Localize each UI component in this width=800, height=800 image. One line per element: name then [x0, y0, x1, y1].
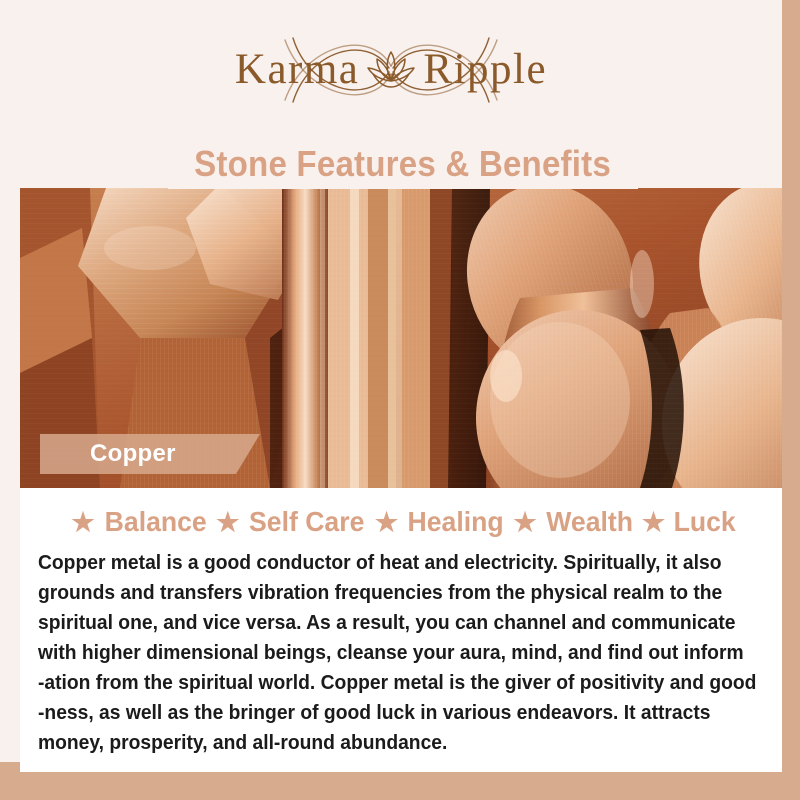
description-line: spiritual one, and vice versa. As a resu…	[38, 608, 720, 638]
poster-root: Karma Ripple Stone Features & Benefits	[0, 0, 800, 800]
benefit-keyword-row: ★ Balance ★ Self Care ★ Healing ★ Wealth…	[34, 506, 768, 538]
stone-name-ribbon: Copper	[40, 434, 260, 474]
description-line: -ation from the spiritual world. Copper …	[38, 668, 720, 698]
brand-wordmark: Karma Ripple	[235, 46, 547, 92]
star-icon: ★	[209, 509, 246, 535]
lotus-icon	[365, 46, 417, 92]
star-icon: ★	[635, 509, 672, 535]
description-line: -ness, as well as the bringer of good lu…	[38, 698, 720, 728]
description-line: grounds and transfers vibration frequenc…	[38, 578, 720, 608]
description-line: with higher dimensional beings, cleanse …	[38, 638, 720, 668]
brand-name-left: Karma	[235, 48, 360, 91]
star-icon: ★	[368, 509, 405, 535]
brand-header: Karma Ripple	[0, 0, 782, 138]
keyword-wealth: Wealth	[546, 506, 633, 538]
stone-description: Copper metal is a good conductor of heat…	[34, 548, 768, 758]
description-line: Copper metal is a good conductor of heat…	[38, 548, 720, 578]
content-card: ★ Balance ★ Self Care ★ Healing ★ Wealth…	[20, 488, 782, 772]
brand-name-right: Ripple	[423, 48, 547, 91]
brand-logo: Karma Ripple	[181, 14, 601, 124]
keyword-self-care: Self Care	[249, 506, 364, 538]
stone-name: Copper	[40, 440, 176, 468]
description-line: money, prosperity, and all-round abundan…	[38, 728, 720, 758]
star-icon: ★	[506, 509, 543, 535]
section-title-banner: Stone Features & Benefits	[168, 139, 638, 189]
page-title: Stone Features & Benefits	[195, 143, 612, 185]
star-icon: ★	[64, 509, 101, 535]
keyword-luck: Luck	[674, 506, 736, 538]
keyword-balance: Balance	[104, 506, 206, 538]
keyword-healing: Healing	[408, 506, 504, 538]
stone-photo: Copper	[20, 188, 782, 488]
